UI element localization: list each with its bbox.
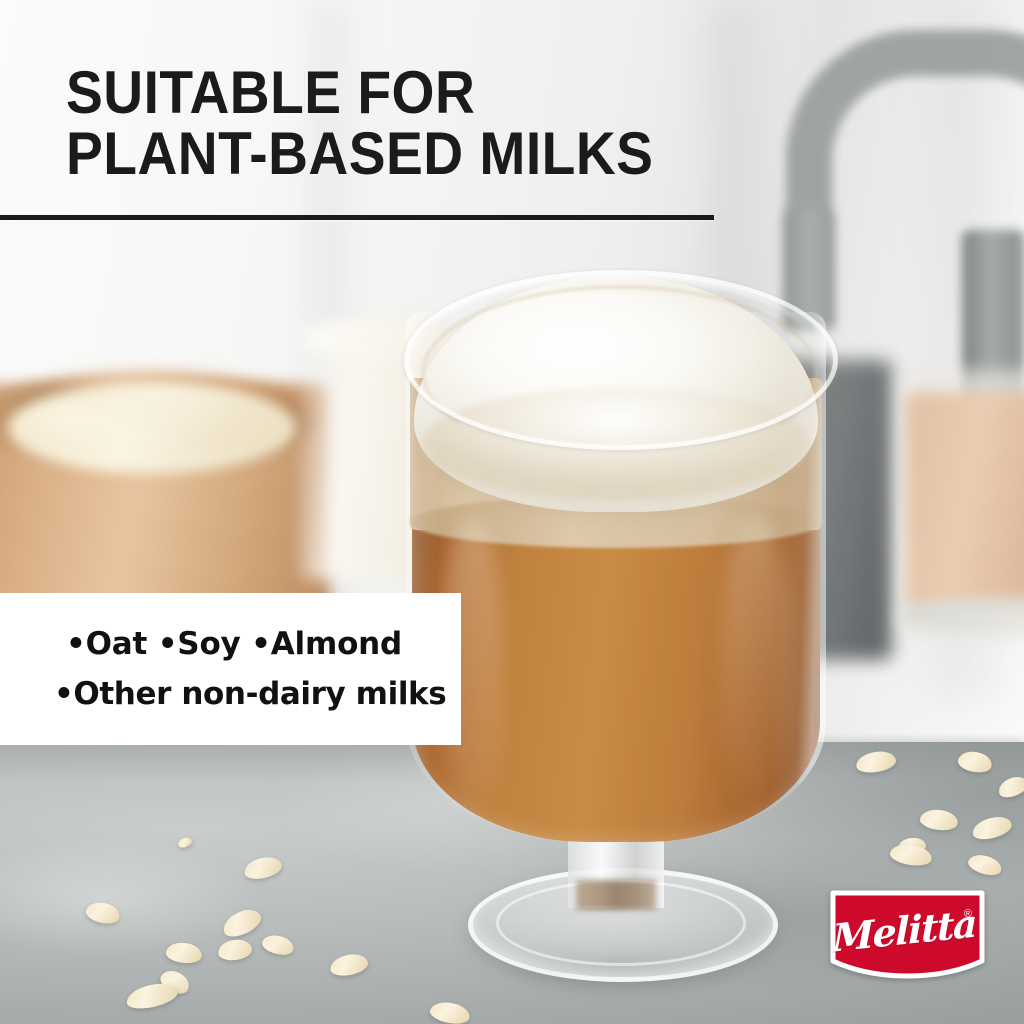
glass-rim	[404, 270, 838, 450]
headline-line-1: SUITABLE FOR	[66, 62, 747, 123]
benefits-row-other-milks: •Other non-dairy milks	[0, 676, 461, 712]
milk-carafe-contents	[906, 392, 1024, 612]
glass-stem-reflection	[576, 880, 656, 910]
headline-line-2: PLANT-BASED MILKS	[66, 123, 747, 184]
benefits-row-milk-types: •Oat •Soy •Almond	[0, 626, 461, 662]
promotional-banner: SUITABLE FOR PLANT-BASED MILKS •Oat •Soy…	[0, 0, 1024, 1024]
coffee-glass	[392, 268, 840, 908]
oats-in-bowl	[8, 382, 296, 474]
melitta-logo: Melitta ®	[829, 889, 986, 987]
benefits-panel: •Oat •Soy •Almond •Other non-dairy milks	[0, 593, 461, 745]
coffee-highlight-right	[722, 518, 792, 808]
headline: SUITABLE FOR PLANT-BASED MILKS	[66, 62, 747, 184]
headline-divider-rule	[0, 215, 714, 220]
